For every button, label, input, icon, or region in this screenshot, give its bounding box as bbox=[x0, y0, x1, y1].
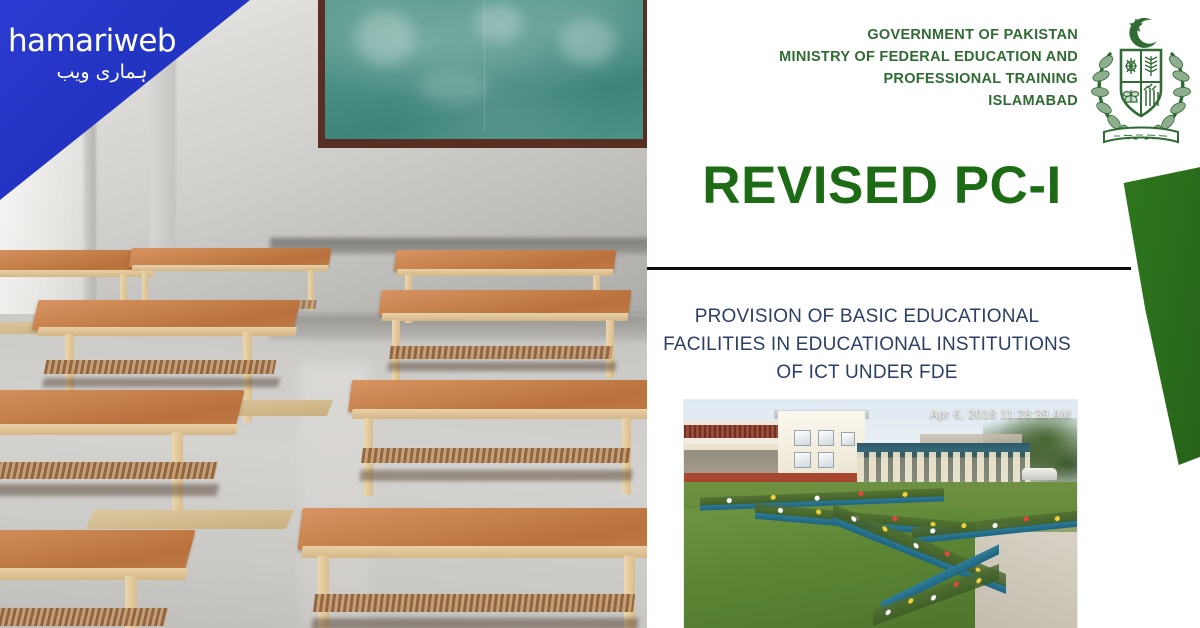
bench-slats bbox=[389, 346, 613, 359]
desk-unit bbox=[0, 530, 190, 628]
classroom-photo: hamariweb ہماری ویب bbox=[0, 0, 650, 628]
document-header: GOVERNMENT OF PAKISTAN MINISTRY OF FEDER… bbox=[647, 14, 1200, 148]
bench-shadow bbox=[359, 470, 632, 481]
building-window bbox=[818, 430, 835, 446]
brand-name-urdu: ہماری ویب bbox=[8, 62, 208, 84]
desk-top bbox=[394, 250, 617, 271]
state-emblem-of-pakistan-icon bbox=[1088, 14, 1194, 148]
chalk-smudge bbox=[475, 3, 523, 43]
bench-slats bbox=[0, 462, 218, 479]
bench-slats bbox=[44, 360, 277, 374]
government-header-text: GOVERNMENT OF PAKISTAN MINISTRY OF FEDER… bbox=[779, 14, 1088, 112]
subtitle-line-3: OF ICT UNDER FDE bbox=[647, 359, 1087, 387]
chalk-smudge bbox=[355, 11, 415, 65]
bench-slats bbox=[313, 594, 635, 612]
desk-unit bbox=[350, 380, 650, 500]
bench-slats bbox=[0, 608, 168, 626]
brand-name: hamariweb bbox=[8, 26, 208, 57]
header-line-2: MINISTRY OF FEDERAL EDUCATION AND bbox=[779, 46, 1078, 68]
blackboard bbox=[318, 0, 650, 148]
desk-top bbox=[378, 290, 631, 315]
parked-car bbox=[1022, 468, 1057, 479]
subtitle-line-1: PROVISION OF BASIC EDUCATIONAL bbox=[647, 303, 1087, 331]
school-campus-photo: Apr 6, 2018 11:28:39 AM bbox=[684, 400, 1077, 628]
building-window bbox=[818, 452, 835, 468]
desk-edge bbox=[351, 409, 648, 419]
desk-unit bbox=[300, 508, 650, 628]
desk-edge bbox=[397, 269, 614, 276]
bench-top bbox=[86, 510, 294, 529]
header-line-4: ISLAMABAD bbox=[779, 90, 1078, 112]
desk-top bbox=[0, 530, 196, 572]
desk-edge bbox=[0, 424, 238, 435]
subtitle-line-2: FACILITIES IN EDUCATIONAL INSTITUTIONS bbox=[647, 331, 1087, 359]
desk-top bbox=[348, 380, 650, 412]
desk-edge bbox=[382, 313, 629, 321]
right-building-colonnade bbox=[857, 452, 1030, 482]
desk-edge bbox=[0, 568, 189, 580]
bench-slats bbox=[361, 448, 631, 463]
header-line-3: PROFESSIONAL TRAINING bbox=[779, 68, 1078, 90]
desk-top bbox=[32, 300, 301, 330]
document-cover: GOVERNMENT OF PAKISTAN MINISTRY OF FEDER… bbox=[647, 0, 1200, 628]
page-title: REVISED PC-I bbox=[647, 155, 1117, 216]
title-divider bbox=[647, 267, 1131, 270]
bench-shadow bbox=[0, 484, 219, 496]
screenshot-canvas: hamariweb ہماری ویب GOVERNMENT OF PAKIST… bbox=[0, 0, 1200, 628]
bench-shadow bbox=[387, 362, 616, 371]
bench-shadow bbox=[42, 378, 280, 387]
chalk-smudge bbox=[560, 19, 616, 65]
building-window bbox=[794, 430, 811, 446]
desk-edge bbox=[132, 265, 329, 271]
building-window bbox=[794, 452, 811, 468]
chalk-smudge bbox=[420, 71, 490, 105]
building-window bbox=[841, 432, 854, 446]
desk-top bbox=[297, 508, 650, 550]
desk-edge bbox=[301, 546, 650, 558]
desk-unit bbox=[130, 248, 330, 308]
hamariweb-logo: hamariweb ہماری ویب bbox=[8, 26, 208, 84]
desk-unit bbox=[380, 290, 630, 380]
document-subtitle: PROVISION OF BASIC EDUCATIONAL FACILITIE… bbox=[647, 303, 1087, 387]
photo-timestamp: Apr 6, 2018 11:28:39 AM bbox=[930, 407, 1071, 421]
header-line-1: GOVERNMENT OF PAKISTAN bbox=[779, 24, 1078, 46]
bench-shadow bbox=[311, 618, 638, 628]
desk-top bbox=[0, 390, 245, 428]
desk-edge bbox=[37, 327, 297, 336]
